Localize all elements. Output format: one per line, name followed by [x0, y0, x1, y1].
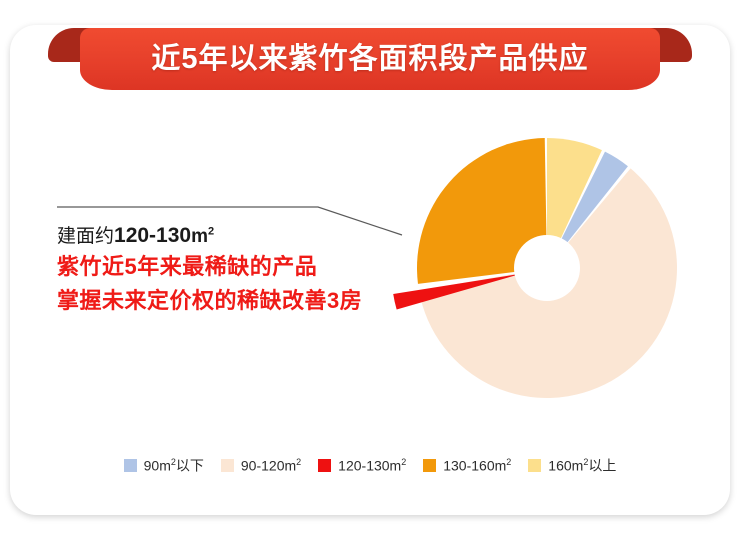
highlight-line-1: 紫竹近5年来最稀缺的产品 [57, 250, 417, 284]
highlight-line-2: 掌握未来定价权的稀缺改善3房 [57, 284, 417, 318]
legend-swatch [423, 459, 436, 472]
callout-annotation: 建面约120-130m2 紫竹近5年来最稀缺的产品 掌握未来定价权的稀缺改善3房 [57, 222, 417, 319]
area-label-unit: m [191, 226, 208, 247]
legend-item[interactable]: 90m2以下 [124, 458, 204, 473]
donut-chart-svg [380, 120, 700, 420]
area-label-value: 120-130 [114, 224, 191, 247]
legend-item[interactable]: 90-120m2 [221, 458, 301, 473]
infographic-stage: 近5年以来紫竹各面积段产品供应 建面约120-130m2 紫竹近5年来最稀缺的产… [0, 0, 740, 537]
legend-label: 90m2以下 [144, 458, 204, 473]
legend-item[interactable]: 120-130m2 [318, 458, 406, 473]
legend-label: 130-160m2 [443, 458, 511, 473]
area-label-superscript: 2 [208, 226, 214, 238]
donut-chart [380, 120, 700, 420]
area-label: 建面约120-130m2 [57, 222, 417, 250]
legend-label: 120-130m2 [338, 458, 406, 473]
legend-item[interactable]: 130-160m2 [423, 458, 511, 473]
chart-legend: 90m2以下90-120m2120-130m2130-160m2160m2以上 [0, 458, 740, 473]
legend-swatch [318, 459, 331, 472]
legend-item[interactable]: 160m2以上 [528, 458, 616, 473]
legend-swatch [221, 459, 234, 472]
donut-hole [514, 235, 580, 301]
legend-label: 90-120m2 [241, 458, 301, 473]
legend-label: 160m2以上 [548, 458, 616, 473]
area-label-prefix: 建面约 [57, 226, 114, 247]
legend-swatch [124, 459, 137, 472]
legend-swatch [528, 459, 541, 472]
